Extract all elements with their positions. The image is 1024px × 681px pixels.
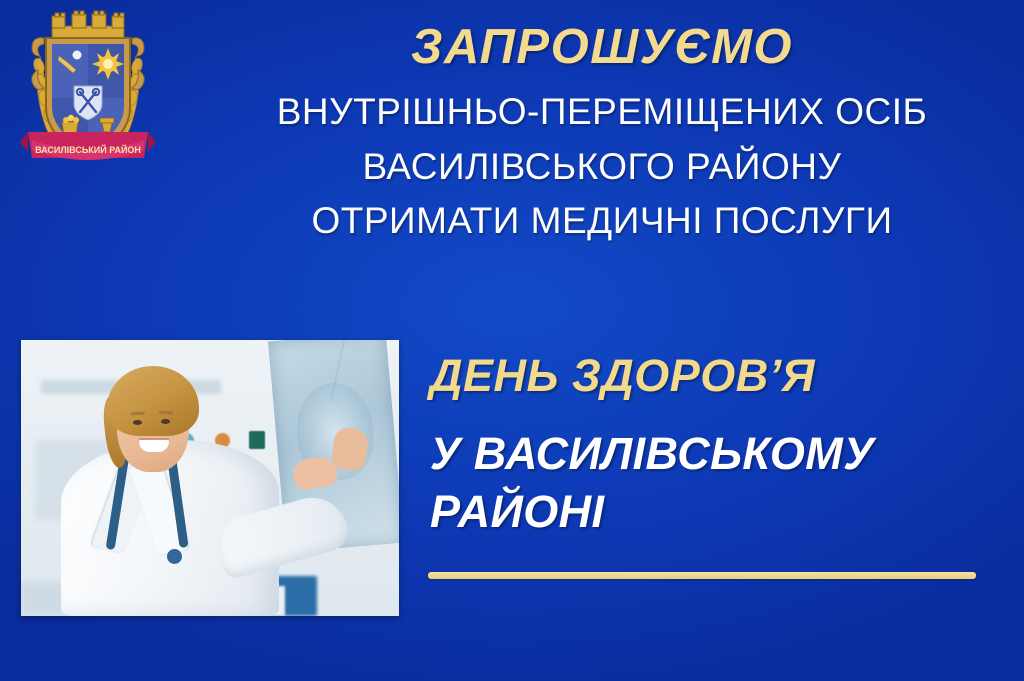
event-title-block: ДЕНЬ ЗДОРОВ’Я У ВАСИЛІВСЬКОМУ РАЙОНІ (430, 352, 990, 540)
gold-divider-rule (428, 572, 976, 579)
event-subtitle-line-2: РАЙОНІ (430, 483, 990, 541)
emblem-ribbon-text: ВАСИЛІВСЬКИЙ РАЙОН (35, 144, 141, 155)
invite-heading: ЗАПРОШУЄМО (180, 22, 1024, 73)
headline-line-3: ОТРИМАТИ МЕДИЧНІ ПОСЛУГИ (180, 194, 1024, 249)
doctor-with-xray-photo (21, 340, 399, 616)
coat-of-arms-icon: ВАСИЛІВСЬКИЙ РАЙОН (18, 8, 158, 180)
doctor-photo-frame (21, 340, 399, 616)
stethoscope-bell (167, 549, 182, 564)
doctor-eye-left (133, 420, 142, 425)
event-title: ДЕНЬ ЗДОРОВ’Я (430, 352, 990, 399)
wall-square-green (249, 431, 265, 449)
doctor-eye-right (161, 419, 170, 424)
headline-line-2: ВАСИЛІВСЬКОГО РАЙОНУ (180, 140, 1024, 195)
poster-canvas: ВАСИЛІВСЬКИЙ РАЙОН ЗАПРОШУЄМО ВНУТРІШНЬО… (0, 0, 1024, 681)
doctor-hair (107, 366, 199, 436)
event-subtitle-line-1: У ВАСИЛІВСЬКОМУ (430, 425, 990, 483)
headline-line-1: ВНУТРІШНЬО-ПЕРЕМІЩЕНИХ ОСІБ (180, 85, 1024, 140)
headline-block: ЗАПРОШУЄМО ВНУТРІШНЬО-ПЕРЕМІЩЕНИХ ОСІБ В… (180, 22, 1024, 249)
coat-of-arms-emblem: ВАСИЛІВСЬКИЙ РАЙОН (18, 8, 158, 180)
